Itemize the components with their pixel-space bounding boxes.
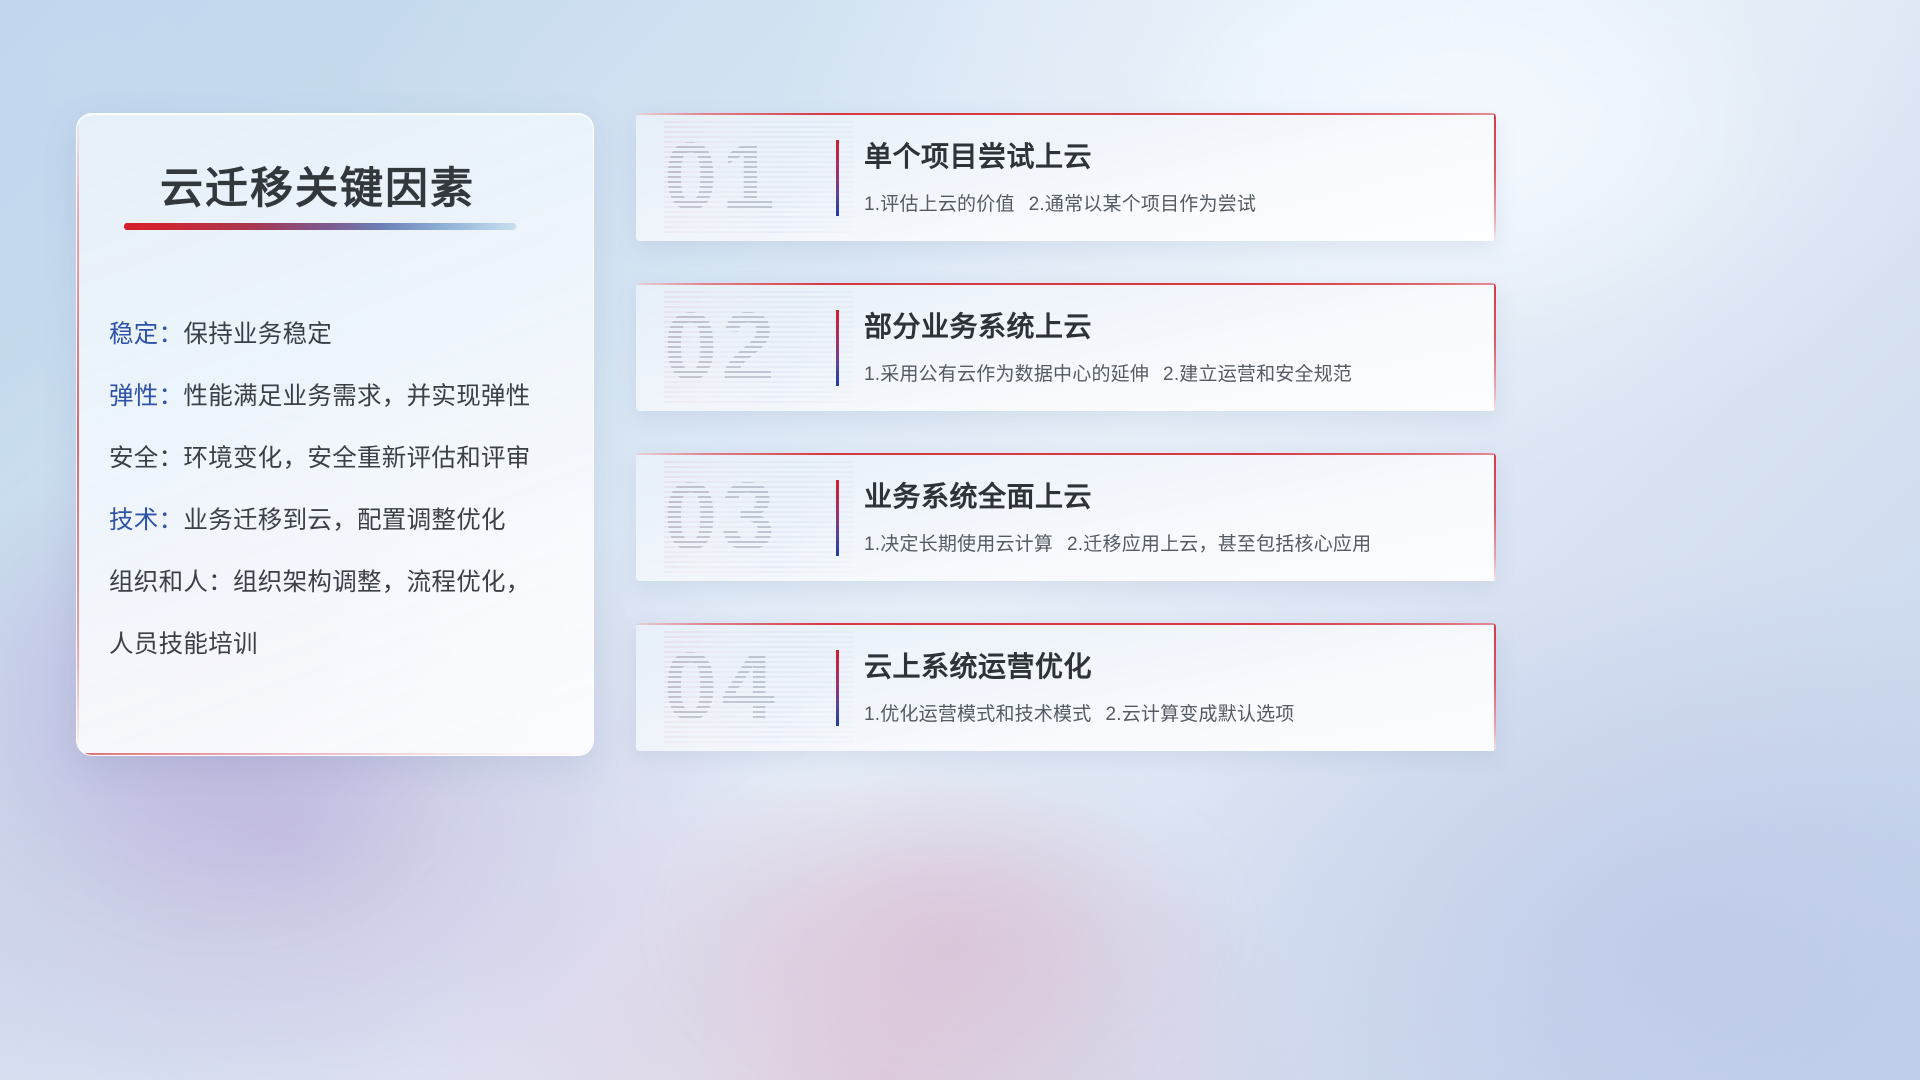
key-factor-label: 安全： (109, 445, 183, 472)
card-number: 03 (664, 461, 854, 573)
key-factor-value: 性能满足业务需求，并实现弹性 (183, 383, 530, 410)
card-divider-bar (836, 310, 839, 386)
card-right-accent-line (1494, 453, 1496, 581)
card-right-accent-line (1494, 623, 1496, 751)
card-description-item-2: 2.通常以某个项目作为尝试 (1029, 194, 1256, 215)
card-description-item-2: 2.迁移应用上云，甚至包括核心应用 (1067, 534, 1371, 555)
key-factor-line: 人员技能培训 (109, 614, 579, 676)
card-description-item-2: 2.云计算变成默认选项 (1105, 704, 1294, 725)
panel-bottom-accent-bar (77, 753, 593, 755)
card-description-item-1: 1.采用公有云作为数据中心的延伸 (864, 364, 1149, 385)
key-factors-panel: 云迁移关键因素 稳定：保持业务稳定弹性：性能满足业务需求，并实现弹性安全：环境变… (76, 113, 594, 756)
key-factor-label: 技术： (109, 507, 183, 534)
card-description-item-1: 1.评估上云的价值 (864, 194, 1015, 215)
card-description-item-1: 1.决定长期使用云计算 (864, 534, 1053, 555)
card-top-accent-line (636, 453, 1496, 455)
stage-card[interactable]: 02部分业务系统上云1.采用公有云作为数据中心的延伸2.建立运营和安全规范 (636, 283, 1496, 411)
card-description: 1.采用公有云作为数据中心的延伸2.建立运营和安全规范 (864, 359, 1352, 386)
card-divider-bar (836, 480, 839, 556)
card-top-accent-line (636, 283, 1496, 285)
key-factor-value: 环境变化，安全重新评估和评审 (183, 445, 530, 472)
title-gradient-rule (124, 223, 516, 230)
key-factors-list: 稳定：保持业务稳定弹性：性能满足业务需求，并实现弹性安全：环境变化，安全重新评估… (109, 304, 579, 676)
card-heading: 业务系统全面上云 (864, 475, 1092, 515)
card-description-item-1: 1.优化运营模式和技术模式 (864, 704, 1091, 725)
card-top-accent-line (636, 113, 1496, 115)
card-heading: 云上系统运营优化 (864, 645, 1092, 685)
stage-cards-list: 01单个项目尝试上云1.评估上云的价值2.通常以某个项目作为尝试02部分业务系统… (636, 113, 1496, 793)
card-heading: 单个项目尝试上云 (864, 135, 1092, 175)
card-heading: 部分业务系统上云 (864, 305, 1092, 345)
page-title: 云迁移关键因素 (160, 154, 475, 216)
panel-left-accent-bar (77, 114, 79, 755)
stage-card[interactable]: 01单个项目尝试上云1.评估上云的价值2.通常以某个项目作为尝试 (636, 113, 1496, 241)
key-factor-label: 稳定： (109, 321, 183, 348)
key-factor-value: 业务迁移到云，配置调整优化 (183, 507, 505, 534)
card-top-accent-line (636, 623, 1496, 625)
card-number: 01 (664, 121, 854, 233)
card-number: 04 (664, 631, 854, 743)
key-factor-value: 组织架构调整，流程优化， (233, 569, 531, 596)
slide-stage: 云迁移关键因素 稳定：保持业务稳定弹性：性能满足业务需求，并实现弹性安全：环境变… (0, 0, 1920, 1080)
stage-card[interactable]: 04云上系统运营优化1.优化运营模式和技术模式2.云计算变成默认选项 (636, 623, 1496, 751)
card-description: 1.评估上云的价值2.通常以某个项目作为尝试 (864, 189, 1256, 216)
key-factor-line: 安全：环境变化，安全重新评估和评审 (109, 428, 579, 490)
card-description: 1.优化运营模式和技术模式2.云计算变成默认选项 (864, 699, 1295, 726)
key-factor-line: 稳定：保持业务稳定 (109, 304, 579, 366)
key-factor-line: 技术：业务迁移到云，配置调整优化 (109, 490, 579, 552)
key-factor-label: 弹性： (109, 383, 183, 410)
card-divider-bar (836, 650, 839, 726)
key-factor-label: 组织和人： (109, 569, 233, 596)
key-factor-line: 弹性：性能满足业务需求，并实现弹性 (109, 366, 579, 428)
card-divider-bar (836, 140, 839, 216)
card-description: 1.决定长期使用云计算2.迁移应用上云，甚至包括核心应用 (864, 529, 1371, 556)
card-number: 02 (664, 291, 854, 403)
card-right-accent-line (1494, 283, 1496, 411)
key-factor-value: 人员技能培训 (109, 631, 258, 658)
key-factor-line: 组织和人：组织架构调整，流程优化， (109, 552, 579, 614)
stage-card[interactable]: 03业务系统全面上云1.决定长期使用云计算2.迁移应用上云，甚至包括核心应用 (636, 453, 1496, 581)
key-factor-value: 保持业务稳定 (183, 321, 332, 348)
card-description-item-2: 2.建立运营和安全规范 (1163, 364, 1352, 385)
card-right-accent-line (1494, 113, 1496, 241)
